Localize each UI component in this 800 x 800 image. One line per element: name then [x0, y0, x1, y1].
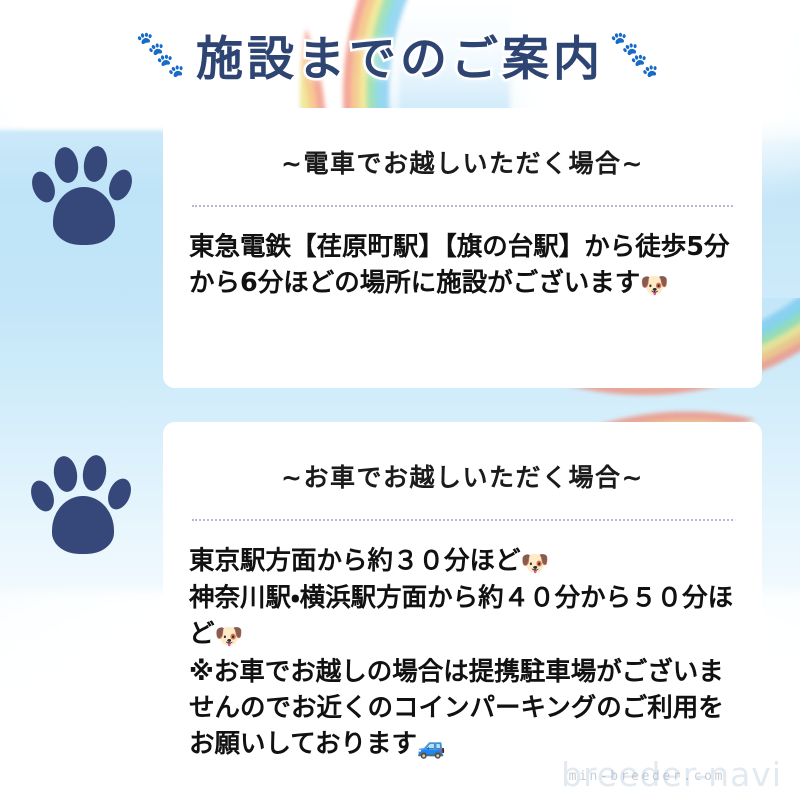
page-title-row: 🐾 🐾 施設までのご案内 🐾 🐾 [0, 20, 800, 98]
card-body-car-line-3: ※お車でお越しの場合は提携駐車場がございませんのでお近くのコインパーキングのご利… [189, 657, 724, 759]
card-divider [192, 205, 733, 207]
paw-toe [52, 145, 80, 184]
paw-toe [80, 453, 108, 492]
card-body-train: 東急電鉄【荏原町駅】【旗の台駅】から徒歩5分から6分ほどの場所に施設がございます… [189, 207, 736, 303]
guide-poster: 🐾 🐾 施設までのご案内 🐾 🐾 ~電車でお越しいただく場合~ 東急電鉄【荏原町… [0, 0, 800, 800]
paw-toe [28, 168, 59, 206]
card-access-by-train: ~電車でお越しいただく場合~ 東急電鉄【荏原町駅】【旗の台駅】から徒歩5分から6… [163, 108, 762, 388]
paw-toe [81, 144, 109, 183]
card-body-car: 東京駅方面から約３０分ほど🐶神奈川駅・横浜駅方面から約４０分から５０分ほど🐶※お… [189, 521, 736, 765]
card-access-by-car: ~お車でお越しいただく場合~ 東京駅方面から約３０分ほど🐶神奈川駅・横浜駅方面か… [163, 422, 762, 794]
page-title: 施設までのご案内 [196, 36, 604, 83]
paw-print-icon-left: 🐾 🐾 [136, 31, 190, 87]
card-heading-train: ~電車でお越しいただく場合~ [189, 108, 736, 178]
paw-pad [53, 187, 115, 245]
card-divider [192, 519, 733, 521]
card-body-car-line-1: 東京駅方面から約３０分ほど [189, 546, 521, 576]
paw-toe [51, 454, 79, 493]
paw-print-glyph: 🐾 [630, 55, 659, 78]
paw-toe [104, 475, 135, 513]
paw-print-left-lower-icon [32, 452, 132, 556]
paw-print-left-upper-icon [33, 143, 133, 247]
car-icon: 🚙 [417, 734, 446, 760]
paw-pad [52, 496, 114, 554]
paw-toe [105, 166, 136, 204]
card-heading-car: ~お車でお越しいただく場合~ [189, 422, 736, 492]
paw-print-glyph: 🐾 [156, 55, 185, 78]
dog-face-icon: 🐶 [640, 273, 669, 299]
dog-face-icon: 🐶 [521, 551, 550, 577]
paw-print-icon-right: 🐾 🐾 [610, 31, 664, 87]
card-body-car-line-2: 神奈川駅・横浜駅方面から約４０分から５０分ほど [189, 583, 733, 649]
watermark-secondary: min-breeder.com [569, 769, 725, 784]
paw-toe [27, 477, 58, 515]
dog-face-icon: 🐶 [215, 624, 244, 650]
